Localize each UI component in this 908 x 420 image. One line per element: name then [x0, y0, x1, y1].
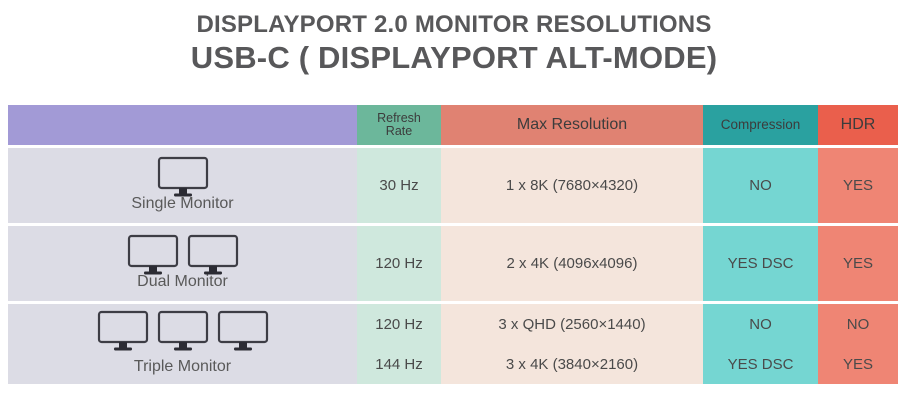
cell-monitor-dual: Dual Monitor: [8, 226, 357, 301]
cell-monitor-triple: Triple Monitor: [8, 304, 357, 384]
monitor-label-dual: Dual Monitor: [8, 273, 357, 291]
resolutions-table: Refresh Rate Max Resolution Compression …: [8, 105, 898, 387]
cell-compression-triple-b: YES DSC: [703, 344, 818, 384]
table-header-row: Refresh Rate Max Resolution Compression …: [8, 105, 898, 145]
cell-compression-dual: YES DSC: [703, 226, 818, 301]
page-title-line-2: USB-C ( DISPLAYPORT ALT-MODE): [0, 40, 908, 76]
monitor-icon: [187, 234, 239, 276]
table-row: Single Monitor 30 Hz 1 x 8K (7680×4320) …: [8, 148, 898, 223]
cell-hdr-triple-a: NO: [818, 304, 898, 344]
cell-refresh-rate-triple-b: 144 Hz: [357, 344, 441, 384]
monitor-icon: [97, 310, 149, 352]
monitor-icon-group-triple: [8, 310, 357, 352]
cell-max-resolution-triple-a: 3 x QHD (2560×1440): [441, 304, 703, 344]
monitor-icon: [217, 310, 269, 352]
monitor-icon: [157, 310, 209, 352]
cell-hdr-single: YES: [818, 148, 898, 223]
cell-monitor-single: Single Monitor: [8, 148, 357, 223]
cell-compression-single: NO: [703, 148, 818, 223]
page-title: DISPLAYPORT 2.0 MONITOR RESOLUTIONS USB-…: [0, 0, 908, 76]
cell-max-resolution-single: 1 x 8K (7680×4320): [441, 148, 703, 223]
cell-max-resolution-dual: 2 x 4K (4096x4096): [441, 226, 703, 301]
header-label-max-resolution: Max Resolution: [517, 117, 627, 134]
page-title-line-1: DISPLAYPORT 2.0 MONITOR RESOLUTIONS: [0, 11, 908, 39]
monitor-icon: [157, 156, 209, 198]
header-cell-hdr: HDR: [818, 105, 898, 145]
table-row: Triple Monitor 120 Hz 144 Hz 3 x QHD (25…: [8, 304, 898, 384]
monitor-icon: [127, 234, 179, 276]
header-cell-compression: Compression: [703, 105, 818, 145]
cell-hdr-triple: NO YES: [818, 304, 898, 384]
monitor-icon-group-single: [8, 156, 357, 198]
table-row: Dual Monitor 120 Hz 2 x 4K (4096x4096) Y…: [8, 226, 898, 301]
header-label-compression: Compression: [721, 118, 801, 132]
cell-refresh-rate-triple-a: 120 Hz: [357, 304, 441, 344]
cell-refresh-rate-dual: 120 Hz: [357, 226, 441, 301]
header-refresh-line2: Rate: [386, 124, 412, 138]
cell-compression-triple: NO YES DSC: [703, 304, 818, 384]
header-cell-max-resolution: Max Resolution: [441, 105, 703, 145]
cell-refresh-rate-triple: 120 Hz 144 Hz: [357, 304, 441, 384]
cell-max-resolution-triple-b: 3 x 4K (3840×2160): [441, 344, 703, 384]
monitor-label-triple: Triple Monitor: [8, 358, 357, 376]
cell-refresh-rate-single: 30 Hz: [357, 148, 441, 223]
cell-compression-triple-a: NO: [703, 304, 818, 344]
monitor-label-single: Single Monitor: [8, 195, 357, 213]
cell-max-resolution-triple: 3 x QHD (2560×1440) 3 x 4K (3840×2160): [441, 304, 703, 384]
monitor-icon-group-dual: [8, 234, 357, 276]
cell-hdr-triple-b: YES: [818, 344, 898, 384]
header-label-refresh-rate: Refresh Rate: [377, 112, 421, 138]
header-cell-monitor: [8, 105, 357, 145]
cell-hdr-dual: YES: [818, 226, 898, 301]
header-cell-refresh-rate: Refresh Rate: [357, 105, 441, 145]
header-label-hdr: HDR: [841, 117, 876, 134]
header-refresh-line1: Refresh: [377, 111, 421, 125]
